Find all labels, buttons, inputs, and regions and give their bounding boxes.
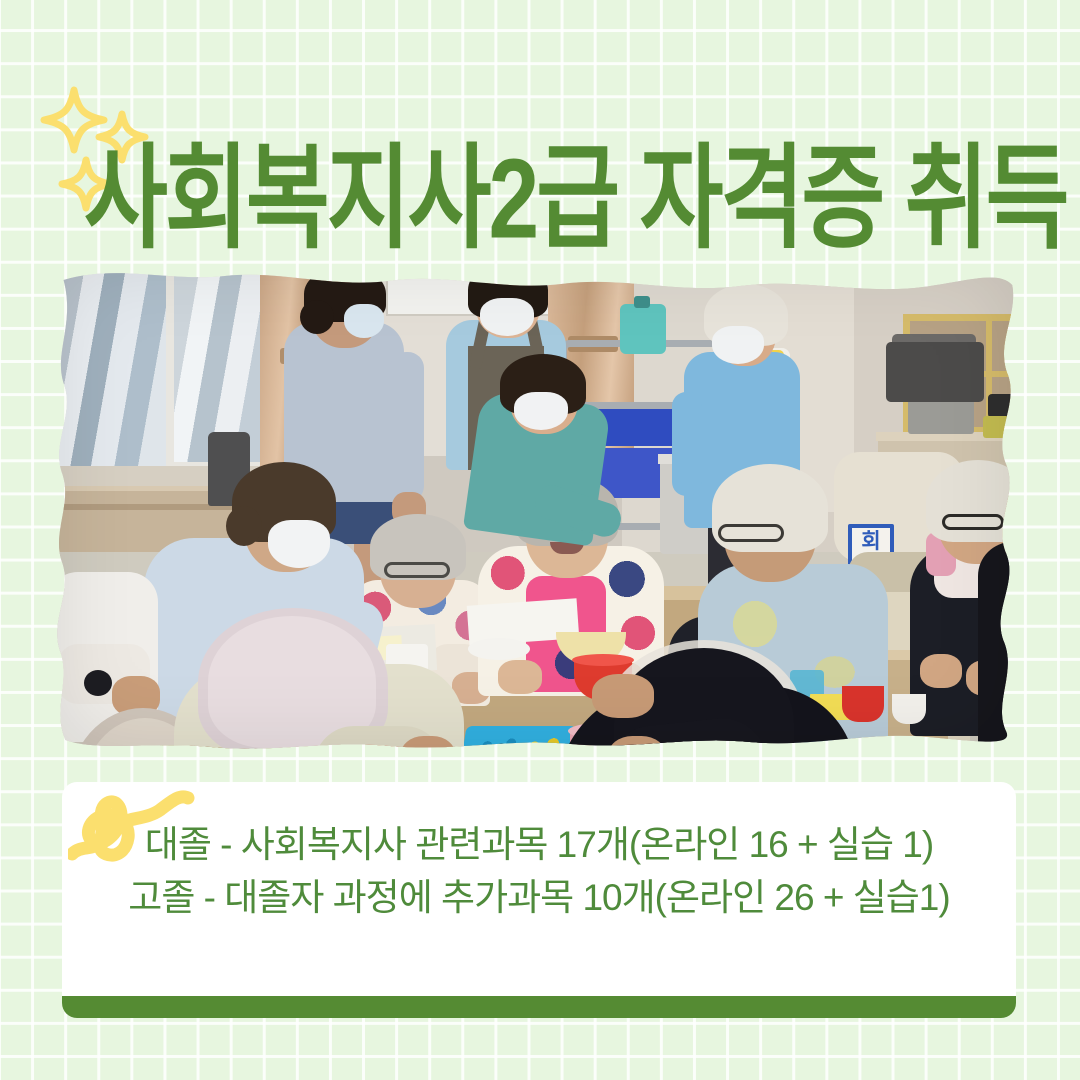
info-line-2: 고졸 - 대졸자 과정에 추가과목 10개(온라인 26 + 실습1) bbox=[62, 871, 1016, 924]
photo-vignette bbox=[48, 256, 1020, 756]
info-card-lines: 대졸 - 사회복지사 관련과목 17개(온라인 16 + 실습 1) 고졸 - … bbox=[62, 818, 1016, 924]
page-title: 사회복지사2급 자격증 취득 bbox=[84, 140, 995, 257]
photo-scene: 회 바 bbox=[48, 256, 1020, 756]
card-bottom-bar bbox=[62, 996, 1016, 1018]
info-card: 대졸 - 사회복지사 관련과목 17개(온라인 16 + 실습 1) 고졸 - … bbox=[62, 782, 1016, 1018]
page-title-wrapper: 사회복지사2급 자격증 취득 bbox=[84, 140, 1014, 236]
activity-photo: 회 바 bbox=[48, 256, 1020, 756]
info-line-1: 대졸 - 사회복지사 관련과목 17개(온라인 16 + 실습 1) bbox=[62, 818, 1016, 871]
